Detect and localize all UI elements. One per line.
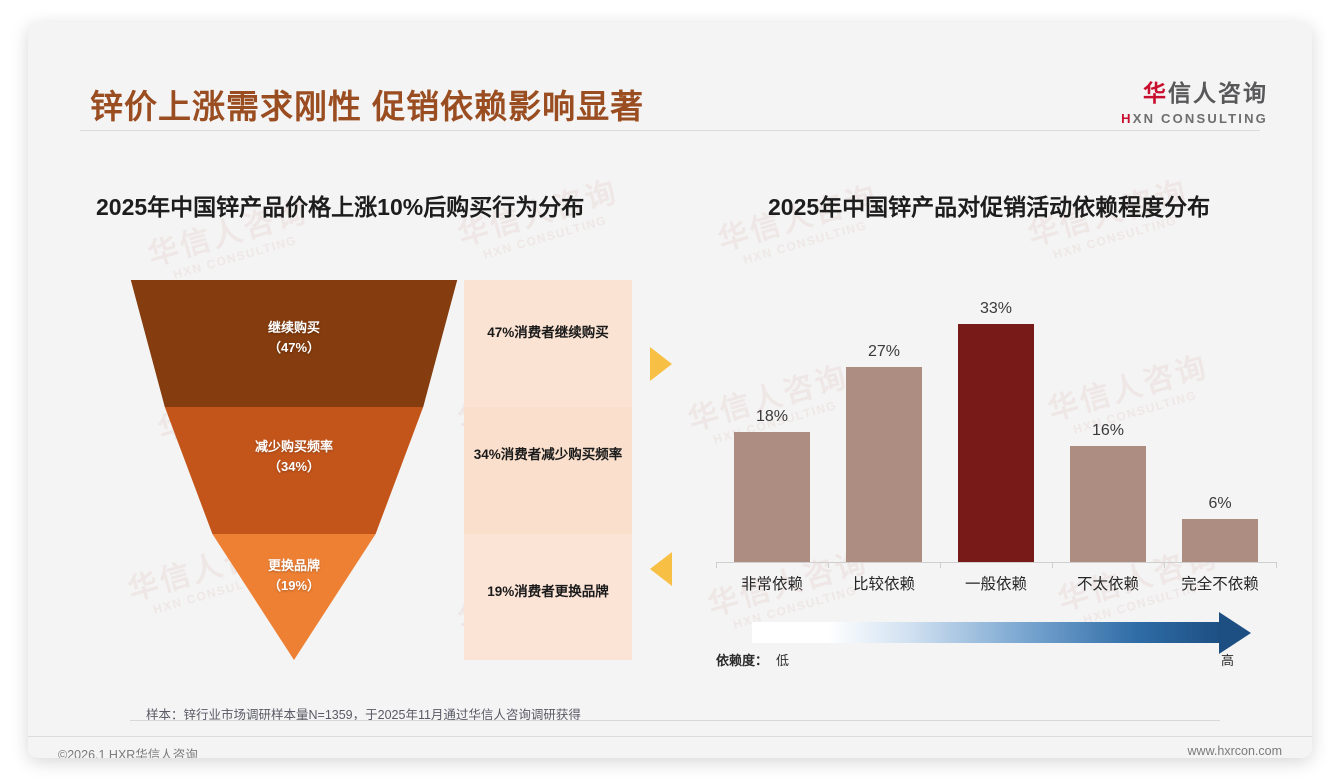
axis-tick <box>828 562 829 568</box>
bar-chart-categories: 非常依赖比较依赖一般依赖不太依赖完全不依赖 <box>716 572 1276 602</box>
watermark-en: HXN CONSULTING <box>154 228 316 287</box>
gradient-arrow-icon <box>1219 612 1251 654</box>
footer-website[interactable]: www.hxrcon.com <box>1188 744 1282 758</box>
bar-5[interactable] <box>1182 519 1258 562</box>
axis-tick <box>1276 562 1277 568</box>
bar-chart-plot: 18%27%33%16%6% <box>716 302 1276 562</box>
bar-category-label: 完全不依赖 <box>1164 572 1276 594</box>
bar-column: 6% <box>1164 302 1276 562</box>
legend-caption: 依赖度： <box>716 650 768 669</box>
funnel-note-text: 47%消费者继续购买 <box>464 323 632 344</box>
bar-column: 27% <box>828 302 940 562</box>
funnel-segment-2-label: 减少购买频率 （34%） <box>124 437 464 476</box>
bar-value-label: 27% <box>828 343 940 361</box>
funnel-segment-3-label: 更换品牌 （19%） <box>124 556 464 595</box>
bar-column: 16% <box>1052 302 1164 562</box>
dependency-legend: 依赖度： 低 高 <box>716 618 1276 676</box>
funnel-note-band: 34%消费者减少购买频率 <box>464 407 632 534</box>
funnel-note-band: 47%消费者继续购买 <box>464 280 632 407</box>
bar-category-label: 非常依赖 <box>716 572 828 594</box>
bar-1[interactable] <box>734 432 810 562</box>
right-panel-title: 2025年中国锌产品对促销活动依赖程度分布 <box>768 188 1210 222</box>
funnel-note-text: 19%消费者更换品牌 <box>464 582 632 603</box>
source-divider <box>130 720 1220 721</box>
axis-tick <box>716 562 717 568</box>
bar-category-label: 不太依赖 <box>1052 572 1164 594</box>
axis-tick <box>1052 562 1053 568</box>
footer-divider <box>28 736 1312 737</box>
bar-value-label: 16% <box>1052 422 1164 440</box>
axis-tick <box>1164 562 1165 568</box>
slide-canvas: 华信人咨询 HXN CONSULTING 华信人咨询 HXN CONSULTIN… <box>28 22 1312 758</box>
bar-column: 33% <box>940 302 1052 562</box>
axis-tick <box>940 562 941 568</box>
bar-category-label: 比较依赖 <box>828 572 940 594</box>
bar-chart-axis <box>716 562 1276 563</box>
logo-cn-rest: 信人咨询 <box>1168 80 1268 106</box>
title-divider <box>80 130 1260 131</box>
bar-2[interactable] <box>846 367 922 562</box>
bar-column: 18% <box>716 302 828 562</box>
slide-header: 锌价上涨需求刚性 促销依赖影响显著 华信人咨询 HXN CONSULTING <box>28 22 1312 130</box>
bar-value-label: 6% <box>1164 495 1276 513</box>
bar-value-label: 18% <box>716 408 828 426</box>
watermark-en: HXN CONSULTING <box>724 213 886 272</box>
page-title: 锌价上涨需求刚性 促销依赖影响显著 <box>90 80 644 128</box>
gradient-bar <box>752 622 1222 643</box>
logo-en-accent: H <box>1121 111 1133 126</box>
funnel-segment-3-pct: （19%） <box>124 576 464 596</box>
funnel-segment-3-name: 更换品牌 <box>124 556 464 576</box>
triangle-left-icon <box>650 552 672 586</box>
bar-category-label: 一般依赖 <box>940 572 1052 594</box>
funnel-segment-1-name: 继续购买 <box>124 318 464 338</box>
funnel-note-text: 34%消费者减少购买频率 <box>464 445 632 466</box>
funnel-segment-1-label: 继续购买 （47%） <box>124 318 464 357</box>
left-panel-title: 2025年中国锌产品价格上涨10%后购买行为分布 <box>96 188 584 222</box>
funnel-chart: 47%消费者继续购买 34%消费者减少购买频率 19%消费者更换品牌 继续购买 … <box>124 280 632 660</box>
funnel-segment-2-name: 减少购买频率 <box>124 437 464 457</box>
bar-4[interactable] <box>1070 446 1146 562</box>
legend-high-label: 高 <box>1221 650 1234 669</box>
logo-chinese-text: 华信人咨询 <box>1121 74 1268 108</box>
funnel-note-band: 19%消费者更换品牌 <box>464 534 632 660</box>
bar-value-label: 33% <box>940 300 1052 318</box>
legend-low-label: 低 <box>776 650 789 669</box>
funnel-segment-2-pct: （34%） <box>124 457 464 477</box>
funnel-segment-1-pct: （47%） <box>124 338 464 358</box>
logo-en-rest: XN CONSULTING <box>1133 111 1268 126</box>
funnel-segment-3[interactable] <box>124 534 464 660</box>
logo-cn-accent: 华 <box>1143 80 1168 106</box>
footer-copyright: ©2026.1 HXR华信人咨询 <box>58 744 198 758</box>
triangle-right-icon <box>650 347 672 381</box>
bar-3[interactable] <box>958 324 1034 562</box>
logo-english-text: HXN CONSULTING <box>1121 111 1268 126</box>
company-logo: 华信人咨询 HXN CONSULTING <box>1121 74 1268 126</box>
